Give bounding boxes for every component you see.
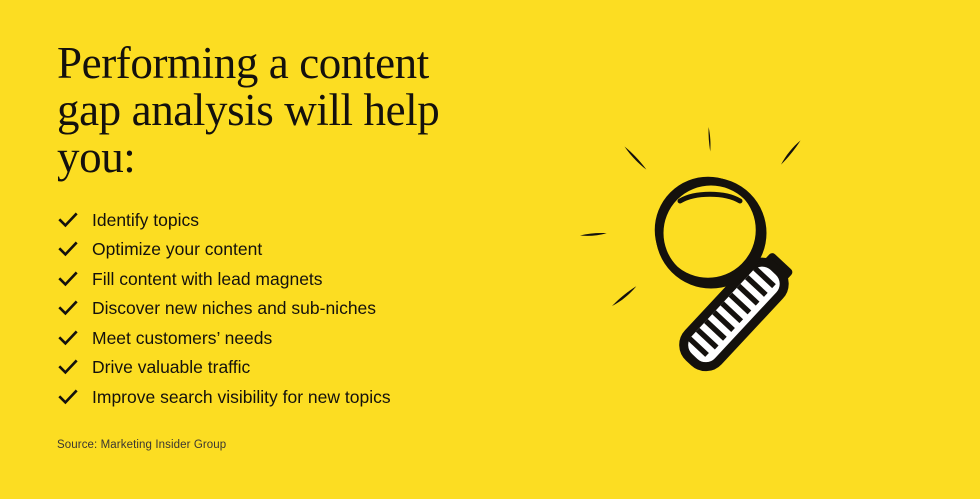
list-item-label: Drive valuable traffic — [92, 356, 250, 378]
check-icon — [57, 386, 79, 408]
magnifying-glass-illustration — [560, 95, 920, 415]
list-item: Drive valuable traffic — [57, 353, 557, 383]
page-title: Performing a content gap analysis will h… — [57, 40, 497, 181]
list-item-label: Improve search visibility for new topics — [92, 386, 391, 408]
source-attribution: Source: Marketing Insider Group — [57, 439, 557, 451]
list-item-label: Discover new niches and sub-niches — [92, 297, 376, 319]
magnifier-lens — [658, 180, 763, 285]
check-icon — [57, 327, 79, 349]
check-icon — [57, 209, 79, 231]
check-icon — [57, 297, 79, 319]
list-item: Identify topics — [57, 205, 557, 235]
slide-canvas: Performing a content gap analysis will h… — [0, 0, 980, 499]
text-column: Performing a content gap analysis will h… — [57, 40, 557, 451]
list-item: Improve search visibility for new topics — [57, 382, 557, 412]
list-item: Discover new niches and sub-niches — [57, 294, 557, 324]
list-item-label: Meet customers’ needs — [92, 327, 272, 349]
list-item: Meet customers’ needs — [57, 323, 557, 353]
check-icon — [57, 238, 79, 260]
magnifier-handle — [677, 248, 798, 374]
benefits-list: Identify topics Optimize your content Fi… — [57, 205, 557, 412]
check-icon — [57, 356, 79, 378]
list-item: Fill content with lead magnets — [57, 264, 557, 294]
list-item-label: Optimize your content — [92, 238, 262, 260]
list-item-label: Identify topics — [92, 209, 199, 231]
check-icon — [57, 268, 79, 290]
list-item-label: Fill content with lead magnets — [92, 268, 323, 290]
list-item: Optimize your content — [57, 235, 557, 265]
